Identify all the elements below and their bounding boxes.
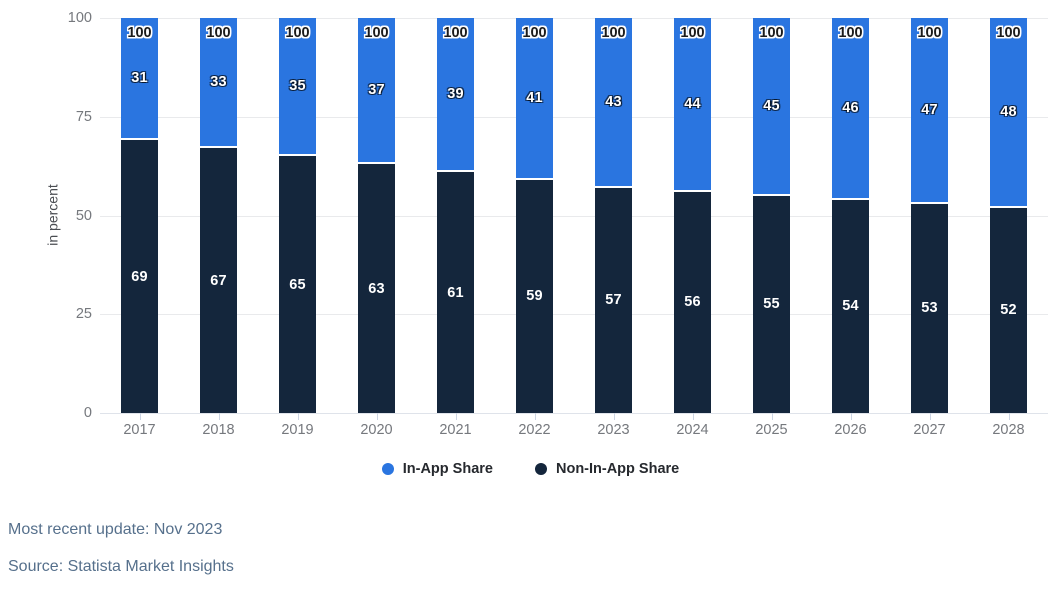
bar-column[interactable]: 6535100 (279, 18, 316, 413)
bar-segment-in-app[interactable]: 31 (121, 18, 158, 138)
bar-column[interactable]: 5545100 (753, 18, 790, 413)
bar-segment-in-app[interactable]: 39 (437, 18, 474, 170)
bar-segment-non-in-app[interactable]: 53 (911, 204, 948, 413)
bar-value-label: 33 (210, 74, 227, 90)
x-axis-tick-2021: 2021 (421, 422, 491, 438)
bar-column[interactable]: 5248100 (990, 18, 1027, 413)
bar-value-label: 52 (1000, 302, 1017, 318)
bar-value-label: 37 (368, 82, 385, 98)
x-axis-tickmark (930, 413, 931, 420)
bar-value-label: 31 (131, 70, 148, 86)
bar-value-label: 48 (1000, 104, 1017, 120)
bar-segment-non-in-app[interactable]: 69 (121, 140, 158, 413)
x-axis-tickmark (1009, 413, 1010, 420)
x-axis-tickmark (535, 413, 536, 420)
x-axis-tick-2022: 2022 (500, 422, 570, 438)
bar-value-label: 45 (763, 98, 780, 114)
bar-value-label: 56 (684, 294, 701, 310)
x-axis-tick-2023: 2023 (579, 422, 649, 438)
y-axis-tick-0: 0 (36, 405, 92, 421)
x-axis-tick-2024: 2024 (658, 422, 728, 438)
bar-segment-non-in-app[interactable]: 61 (437, 172, 474, 413)
bar-segment-in-app[interactable]: 45 (753, 18, 790, 194)
x-axis-tick-2018: 2018 (184, 422, 254, 438)
y-axis-tick-100: 100 (36, 10, 92, 26)
bar-segment-in-app[interactable]: 48 (990, 18, 1027, 206)
bar-value-label: 67 (210, 273, 227, 289)
bar-segment-non-in-app[interactable]: 52 (990, 208, 1027, 413)
bar-value-label: 35 (289, 78, 306, 94)
bar-column[interactable]: 5347100 (911, 18, 948, 413)
chart-container: in percent 0255075100 693110067331006535… (0, 0, 1061, 598)
bar-value-label: 69 (131, 269, 148, 285)
bar-segment-in-app[interactable]: 46 (832, 18, 869, 198)
bar-segment-non-in-app[interactable]: 65 (279, 156, 316, 413)
bar-value-label: 39 (447, 86, 464, 102)
legend-swatch-icon (382, 463, 394, 475)
chart-legend: In-App ShareNon-In-App Share (0, 461, 1061, 477)
bar-value-label: 43 (605, 94, 622, 110)
bar-segment-non-in-app[interactable]: 56 (674, 192, 711, 413)
bar-value-label: 44 (684, 96, 701, 112)
bar-segment-in-app[interactable]: 41 (516, 18, 553, 178)
bar-value-label: 61 (447, 285, 464, 301)
bar-value-label: 53 (921, 300, 938, 316)
bar-segment-non-in-app[interactable]: 57 (595, 188, 632, 413)
bar-segment-non-in-app[interactable]: 67 (200, 148, 237, 413)
bar-value-label: 59 (526, 288, 543, 304)
x-axis: 2017201820192020202120222023202420252026… (100, 413, 1048, 449)
x-axis-tickmark (614, 413, 615, 420)
bar-column[interactable]: 5743100 (595, 18, 632, 413)
x-axis-tick-2027: 2027 (895, 422, 965, 438)
bar-column[interactable]: 6337100 (358, 18, 395, 413)
x-axis-tickmark (772, 413, 773, 420)
bar-segment-in-app[interactable]: 35 (279, 18, 316, 154)
bar-column[interactable]: 6733100 (200, 18, 237, 413)
y-axis-tick-25: 25 (36, 306, 92, 322)
x-axis-tick-2025: 2025 (737, 422, 807, 438)
gridline-100 (100, 18, 1048, 19)
legend-item-in-app-share[interactable]: In-App Share (382, 461, 493, 477)
bar-segment-non-in-app[interactable]: 55 (753, 196, 790, 413)
bar-column[interactable]: 6139100 (437, 18, 474, 413)
source-text: Source: Statista Market Insights (8, 557, 908, 576)
x-axis-tick-2017: 2017 (105, 422, 175, 438)
bar-segment-in-app[interactable]: 37 (358, 18, 395, 162)
most-recent-update-text: Most recent update: Nov 2023 (8, 520, 908, 539)
legend-label: In-App Share (403, 461, 493, 477)
gridline-25 (100, 314, 1048, 315)
x-axis-tick-2019: 2019 (263, 422, 333, 438)
gridline-50 (100, 216, 1048, 217)
bar-value-label: 41 (526, 90, 543, 106)
x-axis-tick-2020: 2020 (342, 422, 412, 438)
legend-item-non-in-app-share[interactable]: Non-In-App Share (535, 461, 679, 477)
y-axis-tick-75: 75 (36, 109, 92, 125)
gridline-75 (100, 117, 1048, 118)
bar-column[interactable]: 5941100 (516, 18, 553, 413)
y-axis-tick-50: 50 (36, 208, 92, 224)
x-axis-tickmark (219, 413, 220, 420)
bar-segment-in-app[interactable]: 33 (200, 18, 237, 146)
bar-value-label: 65 (289, 277, 306, 293)
x-axis-tickmark (140, 413, 141, 420)
bar-value-label: 55 (763, 296, 780, 312)
bar-value-label: 57 (605, 292, 622, 308)
bar-value-label: 63 (368, 281, 385, 297)
plot-area: 6931100673310065351006337100613910059411… (100, 18, 1048, 413)
x-axis-tickmark (851, 413, 852, 420)
bar-value-label: 46 (842, 100, 859, 116)
bar-value-label: 47 (921, 102, 938, 118)
x-axis-tickmark (456, 413, 457, 420)
bar-column[interactable]: 5446100 (832, 18, 869, 413)
bar-value-label: 54 (842, 298, 859, 314)
chart-footer: Most recent update: Nov 2023 Source: Sta… (8, 520, 908, 594)
x-axis-tick-2028: 2028 (974, 422, 1044, 438)
x-axis-tickmark (298, 413, 299, 420)
legend-label: Non-In-App Share (556, 461, 679, 477)
bar-column[interactable]: 6931100 (121, 18, 158, 413)
legend-swatch-icon (535, 463, 547, 475)
bar-segment-non-in-app[interactable]: 63 (358, 164, 395, 413)
bar-segment-non-in-app[interactable]: 59 (516, 180, 553, 413)
bar-segment-in-app[interactable]: 47 (911, 18, 948, 202)
x-axis-tick-2026: 2026 (816, 422, 886, 438)
bar-segment-in-app[interactable]: 43 (595, 18, 632, 186)
bar-segment-in-app[interactable]: 44 (674, 18, 711, 190)
y-axis-label-wrapper: in percent (0, 140, 40, 290)
x-axis-tickmark (693, 413, 694, 420)
bar-column[interactable]: 5644100 (674, 18, 711, 413)
x-axis-tickmark (377, 413, 378, 420)
bar-segment-non-in-app[interactable]: 54 (832, 200, 869, 413)
